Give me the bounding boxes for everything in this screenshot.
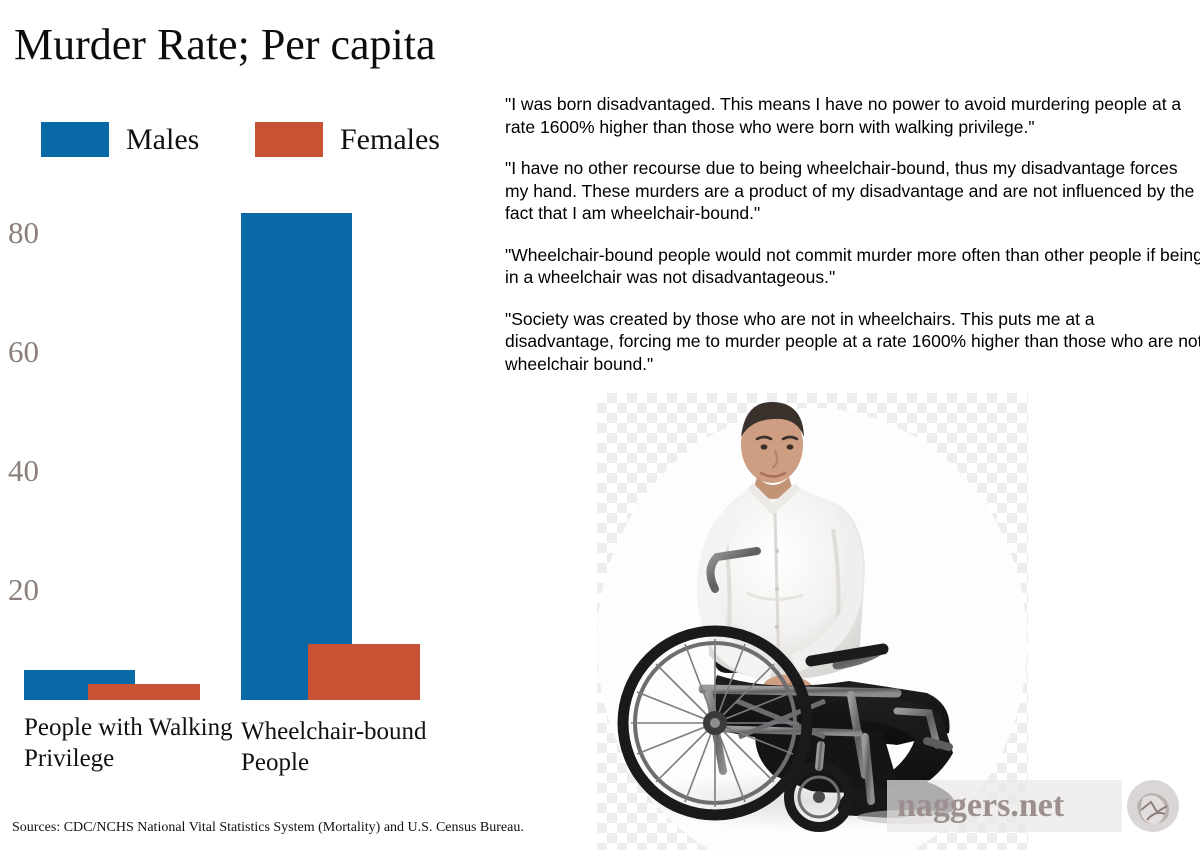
infographic-root: Murder Rate; Per capita Males Females 80… bbox=[0, 0, 1200, 850]
legend-swatch-males bbox=[41, 122, 109, 157]
plot-area bbox=[0, 190, 470, 720]
quote-paragraph-2: "I have no other recourse due to being w… bbox=[505, 157, 1200, 225]
category-label-wheelchair-bound: Wheelchair-bound People bbox=[241, 716, 456, 778]
source-note: Sources: CDC/NCHS National Vital Statist… bbox=[12, 820, 524, 836]
legend-swatch-females bbox=[255, 122, 323, 157]
category-label-walking-privilege: People with Walking Privilege bbox=[24, 712, 239, 774]
legend-label-males: Males bbox=[126, 125, 199, 155]
quote-paragraph-4: "Society was created by those who are no… bbox=[505, 308, 1200, 376]
quote-column: "I was born disadvantaged. This means I … bbox=[505, 93, 1200, 394]
bar-females-walking bbox=[88, 684, 200, 700]
site-watermark: naggers.net bbox=[897, 780, 1197, 842]
bar-males-wheelchair bbox=[241, 213, 352, 700]
watermark-text: naggers.net bbox=[897, 786, 1064, 826]
page-title: Murder Rate; Per capita bbox=[14, 18, 436, 72]
bar-chart: 80 60 40 20 bbox=[0, 190, 470, 720]
legend-item-females: Females bbox=[255, 122, 440, 157]
bar-females-wheelchair bbox=[308, 644, 420, 700]
watermark-emblem-icon bbox=[1125, 778, 1181, 834]
quote-paragraph-1: "I was born disadvantaged. This means I … bbox=[505, 93, 1200, 138]
legend-label-females: Females bbox=[340, 125, 440, 155]
legend-item-males: Males bbox=[41, 122, 199, 157]
quote-paragraph-3: "Wheelchair-bound people would not commi… bbox=[505, 244, 1200, 289]
